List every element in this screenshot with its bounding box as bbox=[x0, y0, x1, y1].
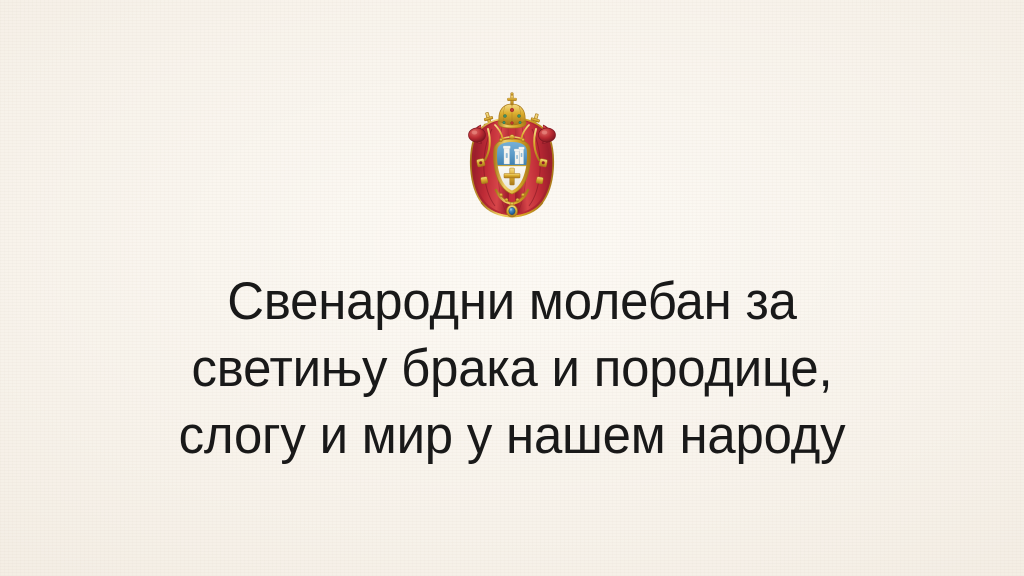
slide-canvas: Свенародни молебан за светињу брака и по… bbox=[0, 0, 1024, 576]
shield-tower-left bbox=[503, 146, 510, 164]
title-line-3: слогу и мир у нашем народу bbox=[20, 402, 1003, 469]
crown-icon bbox=[498, 93, 526, 128]
emblem-container bbox=[0, 92, 1024, 228]
title-line-1: Свенародни молебан за bbox=[20, 268, 1003, 335]
serbian-orthodox-church-coat-of-arms-icon bbox=[459, 92, 565, 228]
crown-cross-icon bbox=[508, 93, 517, 105]
title-line-2: светињу брака и породице, bbox=[20, 335, 1003, 402]
page-title: Свенародни молебан за светињу брака и по… bbox=[0, 268, 1024, 469]
